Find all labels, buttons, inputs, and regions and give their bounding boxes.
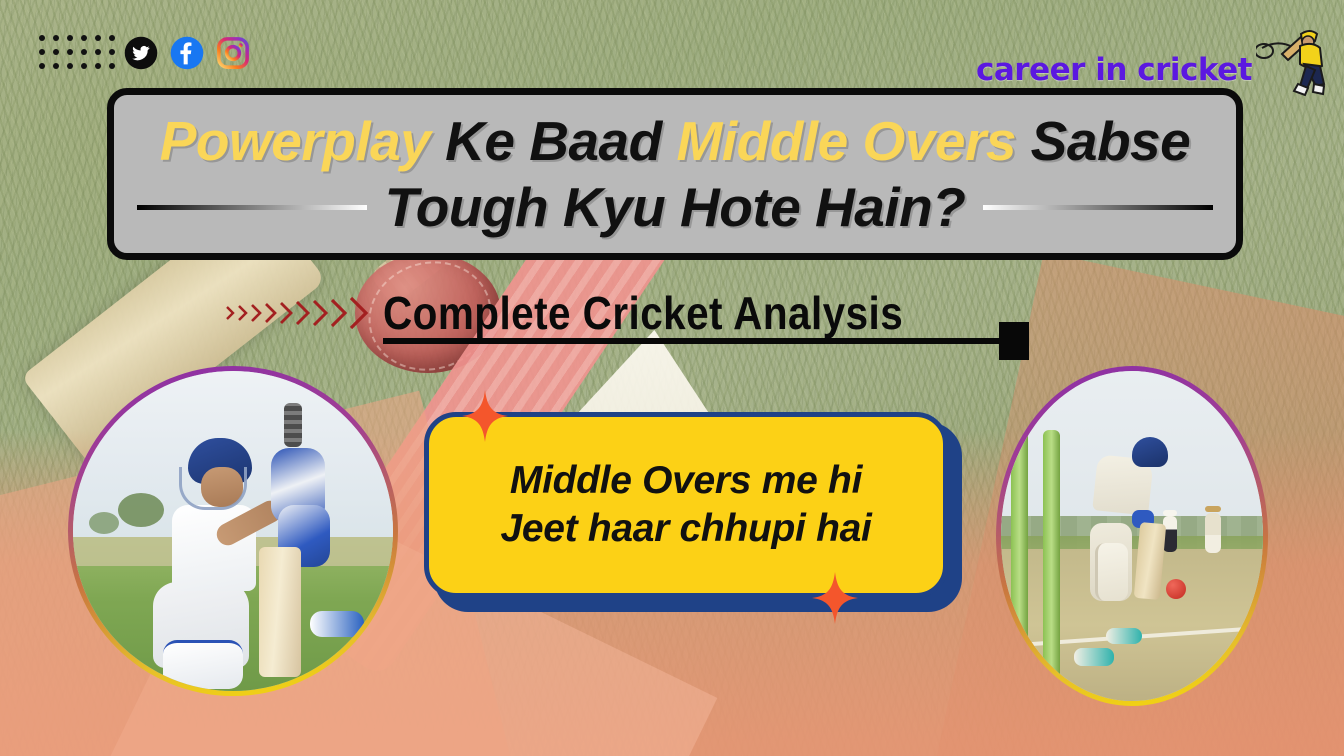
chevron-right-icon <box>312 300 329 326</box>
photo-right-umpire <box>1163 516 1177 552</box>
photo-left-bat-handle <box>284 403 302 447</box>
photo-right-stump-2 <box>1043 430 1060 701</box>
headline-line-2: Tough Kyu Hote Hain? <box>385 179 966 235</box>
brand-logo[interactable]: career in cricket <box>976 22 1330 98</box>
photo-right-cricket-ball <box>1166 579 1186 599</box>
photo-right-helmet <box>1132 437 1168 467</box>
photo-left-shoe <box>310 611 364 637</box>
photo-right-image <box>1001 371 1263 701</box>
chevron-right-icon <box>250 304 263 322</box>
photo-right-stump-1 <box>1011 424 1028 701</box>
callout-line-1: Middle Overs me hi <box>510 459 862 503</box>
headline-plain-2: Sabse <box>1016 110 1190 172</box>
chevron-right-icon <box>295 301 311 325</box>
subheading-underline <box>383 338 1009 344</box>
photo-right-pad <box>1095 543 1128 601</box>
callout-line-2: Jeet haar chhupi hai <box>500 507 871 551</box>
photo-right-shoe-1 <box>1106 628 1142 644</box>
chevron-right-icon <box>225 306 236 320</box>
headline-line-1: Powerplay Ke Baad Middle Overs Sabse <box>160 113 1190 169</box>
chevron-arrows-group <box>225 297 369 329</box>
photo-right-fielder <box>1205 513 1221 553</box>
headline-highlight-powerplay: Powerplay <box>160 110 431 172</box>
headline-line-2-row: Tough Kyu Hote Hain? <box>114 179 1236 235</box>
social-icons <box>124 36 250 70</box>
sparkle-star-icon <box>462 390 508 442</box>
subheading-text: Complete Cricket Analysis <box>383 286 903 340</box>
chevron-right-icon <box>279 302 294 324</box>
subheading-row: Complete Cricket Analysis <box>225 280 1035 346</box>
instagram-icon[interactable] <box>216 36 250 70</box>
photo-left-pad <box>163 640 243 689</box>
chevron-right-icon <box>349 297 369 329</box>
facebook-icon[interactable] <box>170 36 204 70</box>
chevron-right-icon <box>264 303 278 323</box>
poster-canvas: career in cricket Powerplay Ke Baad Midd… <box>0 0 1344 756</box>
chevron-right-icon <box>330 299 348 327</box>
photo-left <box>68 366 398 696</box>
photo-right-fielder-cap <box>1205 506 1221 512</box>
photo-left-tree-2 <box>89 512 119 534</box>
dot-grid-icon <box>36 32 118 72</box>
headline-box: Powerplay Ke Baad Middle Overs Sabse Tou… <box>107 88 1243 260</box>
headline-rule-right <box>983 205 1213 210</box>
photo-right-umpire-cap <box>1163 510 1177 516</box>
cricket-batsman-icon <box>1256 22 1330 102</box>
headline-rule-left <box>137 205 367 210</box>
photo-left-tree <box>118 493 164 527</box>
chevron-right-icon <box>237 305 249 321</box>
photo-right <box>996 366 1268 706</box>
photo-left-helmet-grille <box>179 467 247 510</box>
headline-plain-1: Ke Baad <box>430 110 676 172</box>
sparkle-star-icon <box>812 572 858 624</box>
subheading-block: Complete Cricket Analysis <box>383 286 974 340</box>
headline-highlight-middle-overs: Middle Overs <box>677 110 1016 172</box>
twitter-icon[interactable] <box>124 36 158 70</box>
subheading-end-marker <box>999 322 1029 360</box>
photo-left-image <box>73 371 393 691</box>
photo-left-bat-blade <box>259 547 301 677</box>
photo-right-shoe-2 <box>1074 648 1114 666</box>
